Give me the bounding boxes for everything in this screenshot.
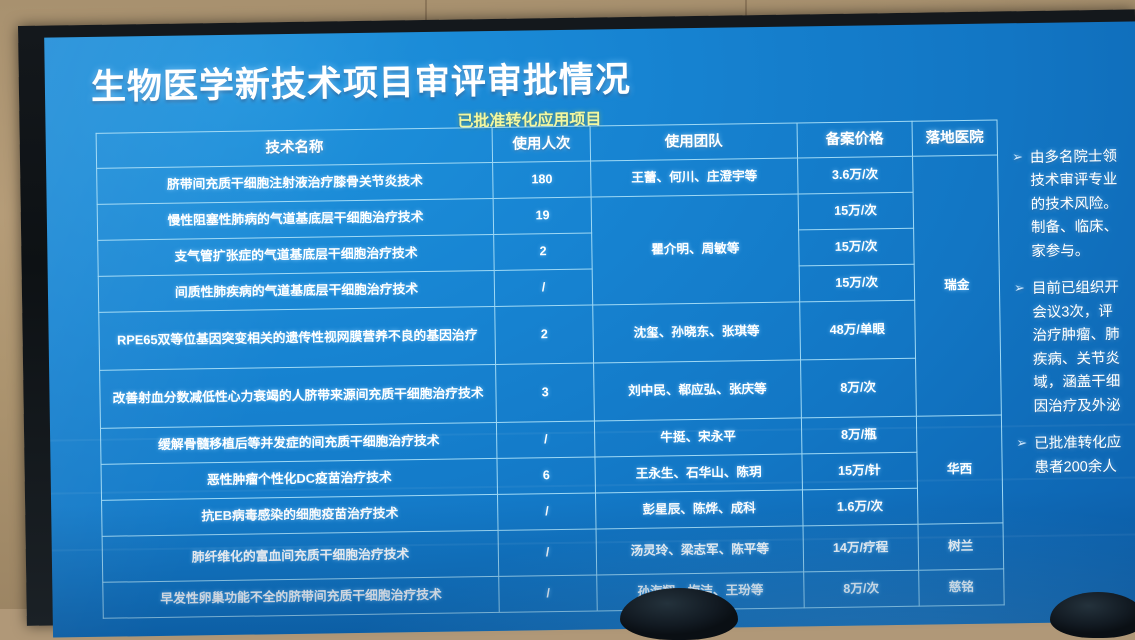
cell-use-count: /	[497, 421, 595, 458]
bullet-item: ➢目前已组织开会议3次，评治疗肿瘤、肺疾病、关节炎域，涵盖干细因治疗及外泌	[1014, 276, 1135, 419]
bullet-item: ➢由多名院士领技术审评专业的技术风险。制备、临床、家参与。	[1012, 145, 1135, 265]
bullet-arrow-icon: ➢	[1012, 147, 1025, 265]
cell-tech-name: 抗EB病毒感染的细胞疫苗治疗技术	[102, 494, 499, 536]
bullet-line: 域，涵盖干细	[1033, 371, 1120, 396]
cell-tech-name: 早发性卵巢功能不全的脐带间充质干细胞治疗技术	[103, 576, 500, 618]
cell-price: 3.6万/次	[797, 156, 913, 194]
cell-team: 瞿介明、周敏等	[591, 194, 799, 305]
column-header-tech: 技术名称	[96, 127, 493, 168]
cell-tech-name: 脐带间充质干细胞注射液治疗膝骨关节炎技术	[97, 162, 494, 204]
cell-price: 15万/针	[802, 452, 918, 490]
cell-use-count: /	[498, 529, 597, 576]
cell-price: 8万/瓶	[801, 416, 917, 454]
bullet-line: 目前已组织开	[1032, 277, 1119, 302]
cell-use-count: /	[494, 269, 592, 306]
cell-hospital: 慈铭	[918, 569, 1004, 606]
cell-price: 1.6万/次	[802, 488, 918, 526]
projection-screen-assembly: 生物医学新技术项目审评审批情况 已批准转化应用项目 技术名称 使用人次 使用团队…	[18, 9, 1135, 609]
bullet-line: 已批准转化应	[1034, 432, 1121, 457]
bullet-text: 目前已组织开会议3次，评治疗肿瘤、肺疾病、关节炎域，涵盖干细因治疗及外泌	[1032, 277, 1121, 419]
bullet-item: ➢已批准转化应患者200余人	[1016, 431, 1135, 480]
cell-tech-name: 改善射血分数减低性心力衰竭的人脐带来源间充质干细胞治疗技术	[100, 364, 497, 428]
page-title: 生物医学新技术项目审评审批情况	[90, 51, 631, 110]
cell-team: 刘中民、郗应弘、张庆等	[594, 360, 801, 421]
cell-tech-name: 间质性肺疾病的气道基底层干细胞治疗技术	[98, 270, 495, 312]
cell-use-count: /	[499, 575, 597, 612]
bullet-line: 因治疗及外泌	[1034, 395, 1121, 420]
cell-use-count: 6	[497, 457, 595, 494]
bullet-line: 会议3次，评	[1032, 301, 1119, 326]
cell-use-count: 2	[494, 233, 592, 270]
cell-team: 沈玺、孙晓东、张琪等	[593, 302, 800, 363]
bullet-line: 患者200余人	[1034, 455, 1121, 480]
cell-use-count: /	[498, 493, 596, 530]
summary-bullet-panel: ➢由多名院士领技术审评专业的技术风险。制备、临床、家参与。➢目前已组织开会议3次…	[1012, 145, 1135, 587]
cell-tech-name: 缓解骨髓移植后等并发症的间充质干细胞治疗技术	[100, 422, 497, 464]
cell-hospital: 树兰	[918, 523, 1004, 570]
column-header-price: 备案价格	[797, 121, 913, 158]
column-header-uses: 使用人次	[492, 126, 590, 162]
cell-use-count: 19	[493, 197, 591, 234]
column-header-hospital: 落地医院	[912, 120, 998, 156]
cell-use-count: 2	[495, 305, 594, 364]
cell-tech-name: RPE65双等位基因突变相关的遗传性视网膜营养不良的基因治疗	[99, 306, 496, 370]
cell-price: 14万/疗程	[803, 524, 919, 572]
cell-tech-name: 肺纤维化的富血间充质干细胞治疗技术	[102, 530, 499, 582]
cell-team: 牛挺、宋永平	[595, 418, 802, 457]
cell-price: 8万/次	[800, 358, 916, 418]
cell-hospital: 瑞金	[912, 155, 1001, 416]
bullet-line: 制备、临床、	[1031, 216, 1118, 241]
cell-hospital: 华西	[916, 415, 1003, 524]
cell-use-count: 3	[496, 363, 595, 422]
presentation-slide: 生物医学新技术项目审评审批情况 已批准转化应用项目 技术名称 使用人次 使用团队…	[44, 21, 1135, 637]
bullet-line: 由多名院士领	[1030, 146, 1117, 171]
cell-team: 王永生、石华山、陈玥	[595, 454, 802, 493]
column-header-team: 使用团队	[590, 123, 797, 161]
bullet-line: 家参与。	[1031, 240, 1118, 265]
table-body: 脐带间充质干细胞注射液治疗膝骨关节炎技术180王蕾、何川、庄澄宇等3.6万/次瑞…	[97, 155, 1005, 618]
bullet-line: 的技术风险。	[1031, 193, 1118, 218]
bullet-line: 治疗肿瘤、肺	[1032, 324, 1119, 349]
bullet-arrow-icon: ➢	[1014, 279, 1027, 420]
cell-team: 王蕾、何川、庄澄宇等	[591, 158, 798, 197]
cell-team: 彭星辰、陈烨、成科	[596, 490, 803, 529]
cell-price: 15万/次	[798, 228, 914, 266]
cell-use-count: 180	[493, 161, 591, 198]
cell-price: 48万/单眼	[799, 300, 915, 360]
approved-projects-table-wrapper: 技术名称 使用人次 使用团队 备案价格 落地医院 脐带间充质干细胞注射液治疗膝骨…	[96, 119, 1005, 618]
cell-tech-name: 恶性肿瘤个性化DC疫苗治疗技术	[101, 458, 498, 500]
bullet-text: 已批准转化应患者200余人	[1034, 432, 1122, 480]
cell-tech-name: 支气管扩张症的气道基底层干细胞治疗技术	[98, 234, 495, 276]
bullet-line: 技术审评专业	[1030, 169, 1117, 194]
cell-price: 8万/次	[803, 570, 919, 608]
cell-team: 汤灵玲、梁志军、陈平等	[596, 526, 803, 575]
bullet-arrow-icon: ➢	[1016, 433, 1028, 480]
cell-tech-name: 慢性阻塞性肺病的气道基底层干细胞治疗技术	[97, 198, 494, 240]
cell-price: 15万/次	[799, 264, 915, 302]
bullet-text: 由多名院士领技术审评专业的技术风险。制备、临床、家参与。	[1030, 146, 1119, 265]
approved-projects-table: 技术名称 使用人次 使用团队 备案价格 落地医院 脐带间充质干细胞注射液治疗膝骨…	[96, 119, 1005, 618]
cell-price: 15万/次	[798, 192, 914, 230]
bullet-line: 疾病、关节炎	[1033, 348, 1120, 373]
